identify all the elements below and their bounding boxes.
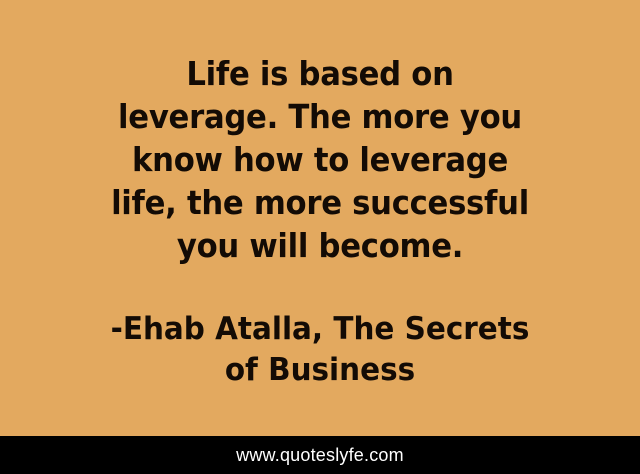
attribution-line: -Ehab Atalla, The Secrets	[43, 309, 598, 350]
footer-bar: www.quoteslyfe.com	[0, 436, 640, 474]
quote-line: Life is based on	[48, 52, 591, 95]
quote-text: Life is based on leverage. The more you …	[48, 52, 591, 267]
quote-attribution: -Ehab Atalla, The Secrets of Business	[43, 309, 598, 391]
attribution-line: of Business	[43, 350, 598, 391]
quote-line: life, the more successful	[48, 181, 591, 224]
quote-card: Life is based on leverage. The more you …	[0, 0, 640, 474]
website-url: www.quoteslyfe.com	[236, 446, 404, 464]
quote-line: know how to leverage	[48, 138, 591, 181]
quote-line: leverage. The more you	[48, 95, 591, 138]
quote-line: you will become.	[48, 224, 591, 267]
quote-content-area: Life is based on leverage. The more you …	[0, 0, 640, 436]
